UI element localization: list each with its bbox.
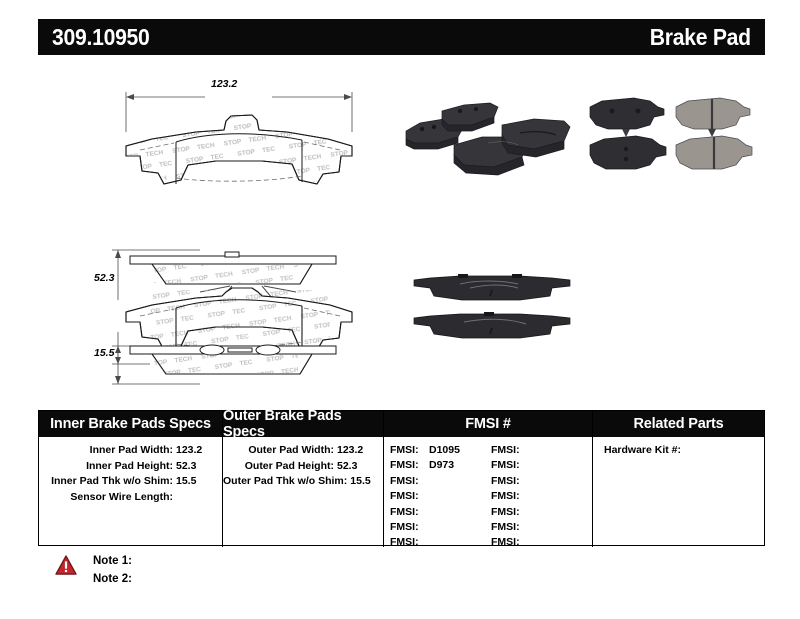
spec-value: 52.3 bbox=[337, 459, 383, 475]
inner-specs-body: Inner Pad Width: 123.2 Inner Pad Height:… bbox=[39, 437, 222, 505]
fmsi-value: D973 bbox=[424, 458, 454, 473]
brake-pad-spec-sheet: 309.10950 Brake Pad STOP TECH STOP TECH bbox=[0, 0, 800, 619]
fmsi-label: FMSI: bbox=[390, 520, 424, 535]
column-outer-specs: Outer Brake Pads Specs Outer Pad Width: … bbox=[223, 411, 383, 547]
fmsi-label: FMSI: bbox=[491, 458, 525, 473]
list-item: FMSI: bbox=[390, 535, 491, 550]
table-row: Outer Pad Width: 123.2 bbox=[223, 443, 383, 459]
fmsi-label: FMSI: bbox=[390, 489, 424, 504]
outer-specs-body: Outer Pad Width: 123.2 Outer Pad Height:… bbox=[223, 437, 383, 490]
specifications-table: Inner Brake Pads Specs Inner Pad Width: … bbox=[38, 410, 765, 546]
spec-value: 15.5 bbox=[176, 474, 222, 490]
photo-pads-edge-view bbox=[400, 256, 586, 346]
column-fmsi: FMSI # FMSI: D1095 FMSI: D973 FMSI: bbox=[384, 411, 592, 547]
warning-triangle-icon bbox=[55, 555, 77, 575]
outer-specs-header: Outer Brake Pads Specs bbox=[223, 411, 383, 437]
column-inner-specs: Inner Brake Pads Specs Inner Pad Width: … bbox=[39, 411, 222, 547]
fmsi-left-column: FMSI: D1095 FMSI: D973 FMSI: FMSI: bbox=[390, 443, 491, 551]
hardware-kit-label: Hardware Kit #: bbox=[604, 444, 681, 456]
fmsi-value bbox=[525, 443, 530, 458]
spec-label: Inner Pad Thk w/o Shim: bbox=[39, 474, 176, 490]
fmsi-label: FMSI: bbox=[491, 489, 525, 504]
fmsi-value bbox=[525, 520, 530, 535]
table-row: Inner Pad Width: 123.2 bbox=[39, 443, 222, 459]
list-item: FMSI: D1095 bbox=[390, 443, 491, 458]
fmsi-value bbox=[525, 489, 530, 504]
list-item: FMSI: bbox=[491, 520, 592, 535]
list-item: FMSI: bbox=[390, 505, 491, 520]
list-item: FMSI: bbox=[491, 489, 592, 504]
height-dimension-label: 52.3 bbox=[94, 272, 114, 284]
fmsi-header: FMSI # bbox=[384, 411, 592, 437]
width-dimension-label: 123.2 bbox=[211, 78, 237, 90]
spec-value bbox=[176, 490, 222, 506]
list-item: FMSI: bbox=[390, 489, 491, 504]
spec-value: 123.2 bbox=[176, 443, 222, 459]
fmsi-value bbox=[525, 505, 530, 520]
list-item: FMSI: D973 bbox=[390, 458, 491, 473]
list-item: FMSI: bbox=[491, 505, 592, 520]
list-item: Hardware Kit #: bbox=[593, 437, 764, 459]
fmsi-value: D1095 bbox=[424, 443, 460, 458]
spec-label: Outer Pad Height: bbox=[223, 459, 337, 475]
table-row: Inner Pad Height: 52.3 bbox=[39, 459, 222, 475]
product-type-label: Brake Pad bbox=[650, 24, 751, 51]
table-row: Sensor Wire Length: bbox=[39, 490, 222, 506]
table-row: Outer Pad Height: 52.3 bbox=[223, 459, 383, 475]
fmsi-label: FMSI: bbox=[491, 505, 525, 520]
fmsi-value bbox=[424, 505, 429, 520]
list-item: FMSI: bbox=[390, 520, 491, 535]
fmsi-label: FMSI: bbox=[390, 443, 424, 458]
spec-label: Inner Pad Width: bbox=[39, 443, 176, 459]
fmsi-value bbox=[424, 535, 429, 550]
note-2: Note 2: bbox=[93, 570, 132, 588]
fmsi-label: FMSI: bbox=[390, 474, 424, 489]
fmsi-label: FMSI: bbox=[491, 474, 525, 489]
related-parts-header: Related Parts bbox=[593, 411, 764, 437]
fmsi-label: FMSI: bbox=[390, 535, 424, 550]
spec-label: Inner Pad Height: bbox=[39, 459, 176, 475]
photo-pads-angled bbox=[398, 93, 574, 185]
fmsi-label: FMSI: bbox=[491, 520, 525, 535]
fmsi-right-column: FMSI: FMSI: FMSI: FMSI: bbox=[491, 443, 592, 551]
fmsi-value bbox=[525, 535, 530, 550]
table-row: Outer Pad Thk w/o Shim: 15.5 bbox=[223, 474, 383, 490]
fmsi-body: FMSI: D1095 FMSI: D973 FMSI: FMSI: bbox=[384, 437, 592, 551]
spec-label: Sensor Wire Length: bbox=[39, 490, 176, 506]
note-1: Note 1: bbox=[93, 552, 132, 570]
list-item: FMSI: bbox=[491, 443, 592, 458]
spec-value: 15.5 bbox=[350, 474, 383, 490]
fmsi-label: FMSI: bbox=[390, 458, 424, 473]
list-item: FMSI: bbox=[390, 474, 491, 489]
fmsi-value bbox=[525, 474, 530, 489]
note-list: Note 1: Note 2: bbox=[93, 552, 132, 588]
fmsi-value bbox=[424, 520, 429, 535]
list-item: FMSI: bbox=[491, 474, 592, 489]
fmsi-value bbox=[525, 458, 530, 473]
spec-value: 52.3 bbox=[176, 459, 222, 475]
spec-value: 123.2 bbox=[337, 443, 383, 459]
drawing-area: STOP TECH STOP TECH bbox=[0, 60, 800, 395]
spec-label: Outer Pad Thk w/o Shim: bbox=[223, 474, 350, 490]
inner-specs-header: Inner Brake Pads Specs bbox=[39, 411, 222, 437]
list-item: FMSI: bbox=[491, 535, 592, 550]
fmsi-label: FMSI: bbox=[390, 505, 424, 520]
fmsi-label: FMSI: bbox=[491, 535, 525, 550]
related-parts-body: Hardware Kit #: bbox=[593, 437, 764, 459]
notes-section: Note 1: Note 2: bbox=[55, 552, 132, 588]
fmsi-value bbox=[424, 489, 429, 504]
photo-pads-front-back bbox=[578, 93, 754, 185]
list-item: FMSI: bbox=[491, 458, 592, 473]
part-number: 309.10950 bbox=[52, 24, 150, 51]
header-bar: 309.10950 Brake Pad bbox=[38, 19, 765, 55]
thickness-dimension-label: 15.5 bbox=[94, 347, 114, 359]
column-related-parts: Related Parts Hardware Kit #: bbox=[593, 411, 764, 547]
fmsi-value bbox=[424, 474, 429, 489]
spec-label: Outer Pad Width: bbox=[223, 443, 337, 459]
table-row: Inner Pad Thk w/o Shim: 15.5 bbox=[39, 474, 222, 490]
fmsi-label: FMSI: bbox=[491, 443, 525, 458]
